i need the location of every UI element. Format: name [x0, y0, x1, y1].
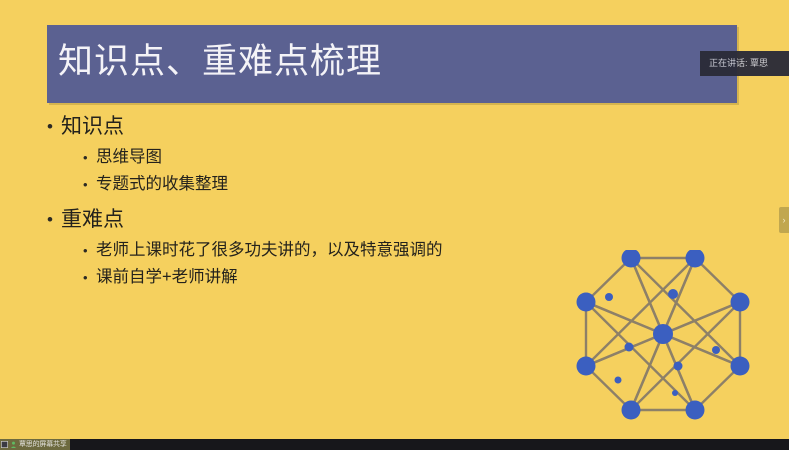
network-diagram-icon [563, 250, 763, 430]
slide-bullet-list: • 知识点 • 思维导图 • 专题式的收集整理 • 重难点 • [47, 112, 567, 298]
bullet-level2: • 课前自学+老师讲解 [47, 264, 567, 291]
bullet-marker-icon: • [47, 112, 61, 142]
taskbar-item-label: 覃思的屏幕共享 [19, 439, 67, 450]
bullet-level2-label: 课前自学+老师讲解 [96, 264, 238, 291]
bullet-marker-icon: • [47, 205, 61, 235]
bullet-level2: • 专题式的收集整理 [47, 171, 567, 198]
bullet-level2: • 老师上课时花了很多功夫讲的，以及特意强调的 [47, 237, 567, 264]
screen-share-viewport: 知识点、重难点梳理 • 知识点 • 思维导图 • 专题式的收集整理 • 重难点 [0, 0, 789, 450]
bullet-level1-label: 知识点 [61, 112, 124, 142]
taskbar-item-screen-share[interactable]: 覃思的屏幕共享 [0, 439, 70, 450]
bullet-marker-icon: • [83, 144, 96, 171]
bullet-level1-label: 重难点 [61, 205, 124, 235]
person-icon [10, 441, 17, 448]
bullet-level2-label: 老师上课时花了很多功夫讲的，以及特意强调的 [96, 237, 443, 264]
window-icon [1, 441, 8, 448]
slide-title: 知识点、重难点梳理 [58, 38, 382, 86]
bullet-marker-icon: • [83, 264, 96, 291]
bullet-level2: • 思维导图 [47, 144, 567, 171]
bullet-level2-label: 思维导图 [96, 144, 162, 171]
bullet-marker-icon: • [83, 237, 96, 264]
presentation-slide: 知识点、重难点梳理 • 知识点 • 思维导图 • 专题式的收集整理 • 重难点 [0, 0, 789, 440]
bullet-marker-icon: • [83, 171, 96, 198]
chevron-right-icon[interactable]: › [779, 207, 789, 233]
bullet-level2-group: • 思维导图 • 专题式的收集整理 [47, 144, 567, 198]
bullet-level2-label: 专题式的收集整理 [96, 171, 228, 198]
bullet-level1: • 知识点 [47, 112, 567, 142]
taskbar: 覃思的屏幕共享 [0, 439, 789, 450]
bullet-level1: • 重难点 [47, 205, 567, 235]
speaking-status-badge: 正在讲话: 覃思 [700, 51, 789, 76]
bullet-level2-group: • 老师上课时花了很多功夫讲的，以及特意强调的 • 课前自学+老师讲解 [47, 237, 567, 291]
